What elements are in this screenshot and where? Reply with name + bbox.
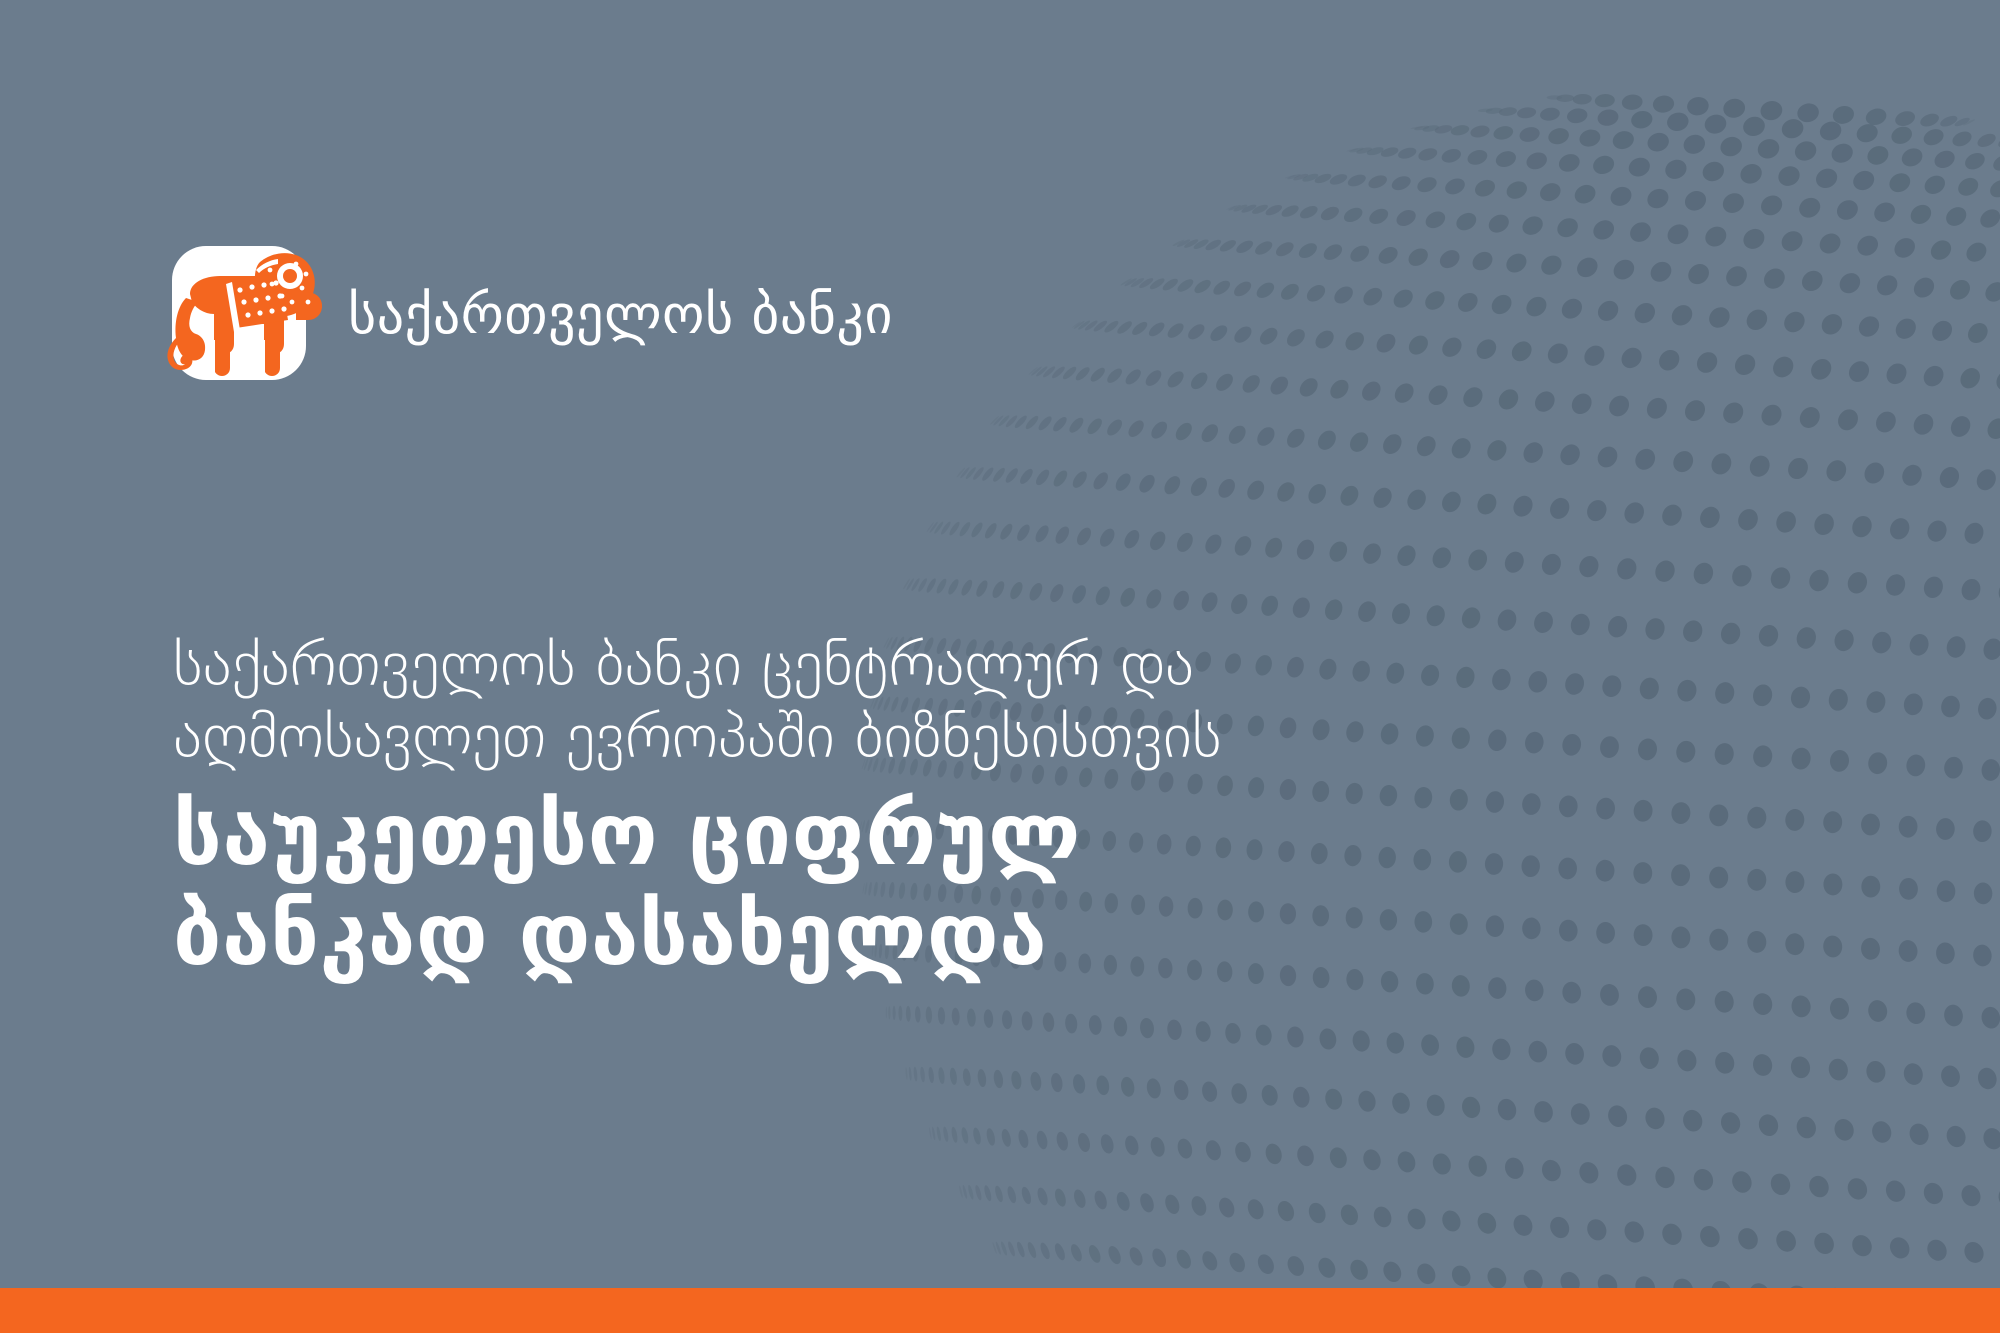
headline-light-line-1: საქართველოს ბანკი ცენტრალურ და bbox=[173, 628, 1813, 700]
logo-mark bbox=[172, 246, 306, 380]
bank-of-georgia-lion-icon bbox=[156, 240, 328, 390]
headline-block: საქართველოს ბანკი ცენტრალურ და აღმოსავლე… bbox=[173, 628, 1813, 985]
headline-bold-line-2: ბანკად დასახელდა bbox=[173, 886, 1813, 986]
logo-wordmark: საქართველოს ბანკი bbox=[348, 288, 893, 342]
brand-logo[interactable]: საქართველოს ბანკი bbox=[172, 246, 893, 380]
headline-light-line-2: აღმოსავლეთ ევროპაში ბიზნესისთვის bbox=[173, 700, 1813, 772]
headline-bold-line-1: საუკეთესო ციფრულ bbox=[173, 786, 1813, 886]
promo-banner: საქართველოს ბანკი საქართველოს ბანკი ცენტ… bbox=[0, 0, 2000, 1333]
bottom-accent-bar bbox=[0, 1288, 2000, 1333]
